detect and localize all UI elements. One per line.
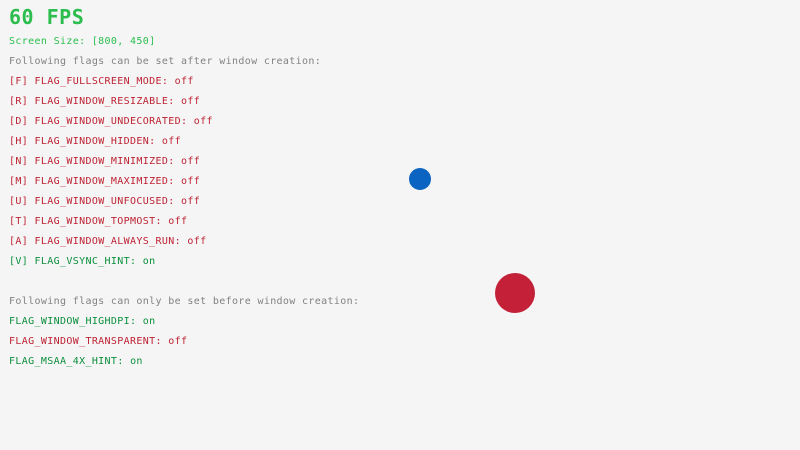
flag-name: FLAG_WINDOW_HIDDEN	[34, 136, 149, 147]
flag-name: FLAG_WINDOW_ALWAYS_RUN	[34, 236, 174, 247]
flag-state-value: off	[162, 136, 181, 147]
section-spacer	[9, 276, 429, 296]
flag-row[interactable]: FLAG_MSAA_4X_HINT: on	[9, 356, 429, 376]
flag-state-value: off	[168, 216, 187, 227]
flag-name: FLAG_WINDOW_TRANSPARENT	[9, 336, 156, 347]
flag-state-value: on	[143, 256, 156, 267]
flag-row[interactable]: [R] FLAG_WINDOW_RESIZABLE: off	[9, 96, 429, 116]
flag-row[interactable]: [H] FLAG_WINDOW_HIDDEN: off	[9, 136, 429, 156]
flag-colon: :	[162, 76, 175, 87]
flag-state-value: off	[187, 236, 206, 247]
flag-row[interactable]: [N] FLAG_WINDOW_MINIMIZED: off	[9, 156, 429, 176]
flag-row[interactable]: [A] FLAG_WINDOW_ALWAYS_RUN: off	[9, 236, 429, 256]
flag-row[interactable]: FLAG_WINDOW_TRANSPARENT: off	[9, 336, 429, 356]
flag-state-value: off	[194, 116, 213, 127]
flag-shortcut-key: [M]	[9, 176, 34, 187]
flag-name: FLAG_WINDOW_UNFOCUSED	[34, 196, 168, 207]
flag-row[interactable]: [U] FLAG_WINDOW_UNFOCUSED: off	[9, 196, 429, 216]
flag-name: FLAG_WINDOW_HIGHDPI	[9, 316, 130, 327]
flag-state-value: off	[181, 176, 200, 187]
flag-shortcut-key: [H]	[9, 136, 34, 147]
flag-colon: :	[175, 236, 188, 247]
flag-state-value: on	[130, 356, 143, 367]
flag-name: FLAG_WINDOW_TOPMOST	[34, 216, 155, 227]
flag-row[interactable]: FLAG_WINDOW_HIGHDPI: on	[9, 316, 429, 336]
flag-shortcut-key: [D]	[9, 116, 34, 127]
flag-row[interactable]: [M] FLAG_WINDOW_MAXIMIZED: off	[9, 176, 429, 196]
flag-colon: :	[130, 316, 143, 327]
flag-shortcut-key: [A]	[9, 236, 34, 247]
flag-colon: :	[168, 96, 181, 107]
blue-circle	[409, 168, 431, 190]
flag-shortcut-key: [R]	[9, 96, 34, 107]
flag-shortcut-key: [N]	[9, 156, 34, 167]
flag-shortcut-key: [F]	[9, 76, 34, 87]
startup-flags-heading: Following flags can only be set before w…	[9, 296, 429, 316]
flag-colon: :	[156, 336, 169, 347]
flag-name: FLAG_FULLSCREEN_MODE	[34, 76, 161, 87]
flag-shortcut-key: [T]	[9, 216, 34, 227]
flag-colon: :	[149, 136, 162, 147]
flag-name: FLAG_WINDOW_MINIMIZED	[34, 156, 168, 167]
flag-row[interactable]: [T] FLAG_WINDOW_TOPMOST: off	[9, 216, 429, 236]
startup-flags-list: FLAG_WINDOW_HIGHDPI: onFLAG_WINDOW_TRANS…	[9, 316, 429, 376]
flag-shortcut-key: [U]	[9, 196, 34, 207]
flag-name: FLAG_WINDOW_RESIZABLE	[34, 96, 168, 107]
flag-state-value: off	[181, 156, 200, 167]
flag-row[interactable]: [V] FLAG_VSYNC_HINT: on	[9, 256, 429, 276]
flag-colon: :	[168, 176, 181, 187]
flag-colon: :	[168, 196, 181, 207]
flag-colon: :	[130, 256, 143, 267]
screen-size-label: Screen Size: [800, 450]	[9, 36, 429, 56]
flag-name: FLAG_MSAA_4X_HINT	[9, 356, 117, 367]
raylib-window-canvas[interactable]: 60 FPS Screen Size: [800, 450] Following…	[0, 0, 800, 450]
runtime-flags-list: [F] FLAG_FULLSCREEN_MODE: off[R] FLAG_WI…	[9, 76, 429, 276]
flag-row[interactable]: [D] FLAG_WINDOW_UNDECORATED: off	[9, 116, 429, 136]
flag-state-value: off	[181, 96, 200, 107]
flag-colon: :	[156, 216, 169, 227]
flag-row[interactable]: [F] FLAG_FULLSCREEN_MODE: off	[9, 76, 429, 96]
flag-name: FLAG_VSYNC_HINT	[34, 256, 130, 267]
flag-colon: :	[181, 116, 194, 127]
flag-state-value: off	[175, 76, 194, 87]
flags-text-block: Screen Size: [800, 450] Following flags …	[9, 36, 429, 376]
flag-state-value: off	[168, 336, 187, 347]
flag-colon: :	[168, 156, 181, 167]
runtime-flags-heading: Following flags can be set after window …	[9, 56, 429, 76]
flag-name: FLAG_WINDOW_MAXIMIZED	[34, 176, 168, 187]
fps-counter: 60 FPS	[9, 6, 84, 28]
flag-state-value: on	[143, 316, 156, 327]
red-circle	[495, 273, 535, 313]
flag-state-value: off	[181, 196, 200, 207]
flag-colon: :	[117, 356, 130, 367]
flag-name: FLAG_WINDOW_UNDECORATED	[34, 116, 181, 127]
flag-shortcut-key: [V]	[9, 256, 34, 267]
